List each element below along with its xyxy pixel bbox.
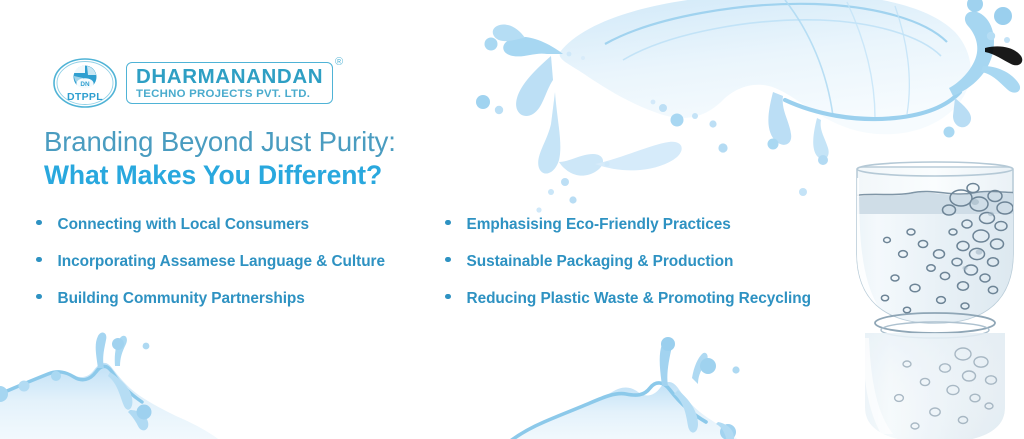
list-item: Sustainable Packaging & Production — [445, 253, 875, 290]
list-item: Connecting with Local Consumers — [36, 216, 445, 253]
logo-company-name: DHARMANANDAN — [136, 67, 323, 88]
list-item-label: Emphasising Eco-Friendly Practices — [467, 216, 731, 234]
list-item: Emphasising Eco-Friendly Practices — [445, 216, 875, 253]
brand-logo: DN DTPPL DHARMANANDAN TECHNO PROJECTS PV… — [52, 57, 333, 109]
list-item-label: Sustainable Packaging & Production — [467, 253, 734, 271]
headline-line-1: Branding Beyond Just Purity: — [44, 126, 396, 158]
headline-line-2: What Makes You Different? — [44, 160, 396, 191]
list-item-label: Building Community Partnerships — [58, 290, 305, 308]
list-item-label: Incorporating Assamese Language & Cultur… — [58, 253, 386, 271]
marketing-banner: DN DTPPL DHARMANANDAN TECHNO PROJECTS PV… — [0, 0, 1024, 439]
page-title: Branding Beyond Just Purity: What Makes … — [44, 126, 396, 191]
bullet-dot-icon — [36, 257, 42, 263]
list-item: Building Community Partnerships — [36, 290, 445, 327]
bullet-dot-icon — [445, 257, 451, 263]
bullet-dot-icon — [36, 220, 42, 226]
globe-emblem-icon: DN DTPPL — [52, 57, 118, 109]
logo-wordmark-box: DHARMANANDAN TECHNO PROJECTS PVT. LTD. ® — [126, 62, 333, 105]
registered-trademark-icon: ® — [335, 57, 343, 68]
bullet-columns: Connecting with Local Consumers Incorpor… — [36, 216, 875, 327]
list-item-label: Reducing Plastic Waste & Promoting Recyc… — [467, 290, 811, 308]
water-splash-arc-graphic — [455, 0, 1024, 222]
bullet-dot-icon — [445, 294, 451, 300]
bullet-column-right: Emphasising Eco-Friendly Practices Susta… — [445, 216, 875, 327]
water-splash-crown-graphic — [0, 332, 300, 439]
bullet-dot-icon — [36, 294, 42, 300]
emblem-text: DTPPL — [67, 91, 103, 103]
water-splash-crown-graphic — [440, 330, 800, 439]
list-item: Reducing Plastic Waste & Promoting Recyc… — [445, 290, 875, 327]
list-item: Incorporating Assamese Language & Cultur… — [36, 253, 445, 290]
logo-company-tagline: TECHNO PROJECTS PVT. LTD. — [136, 89, 327, 100]
bullet-column-left: Connecting with Local Consumers Incorpor… — [36, 216, 445, 327]
emblem-inner-text: DN — [80, 81, 90, 88]
list-item-label: Connecting with Local Consumers — [58, 216, 310, 234]
bullet-dot-icon — [445, 220, 451, 226]
